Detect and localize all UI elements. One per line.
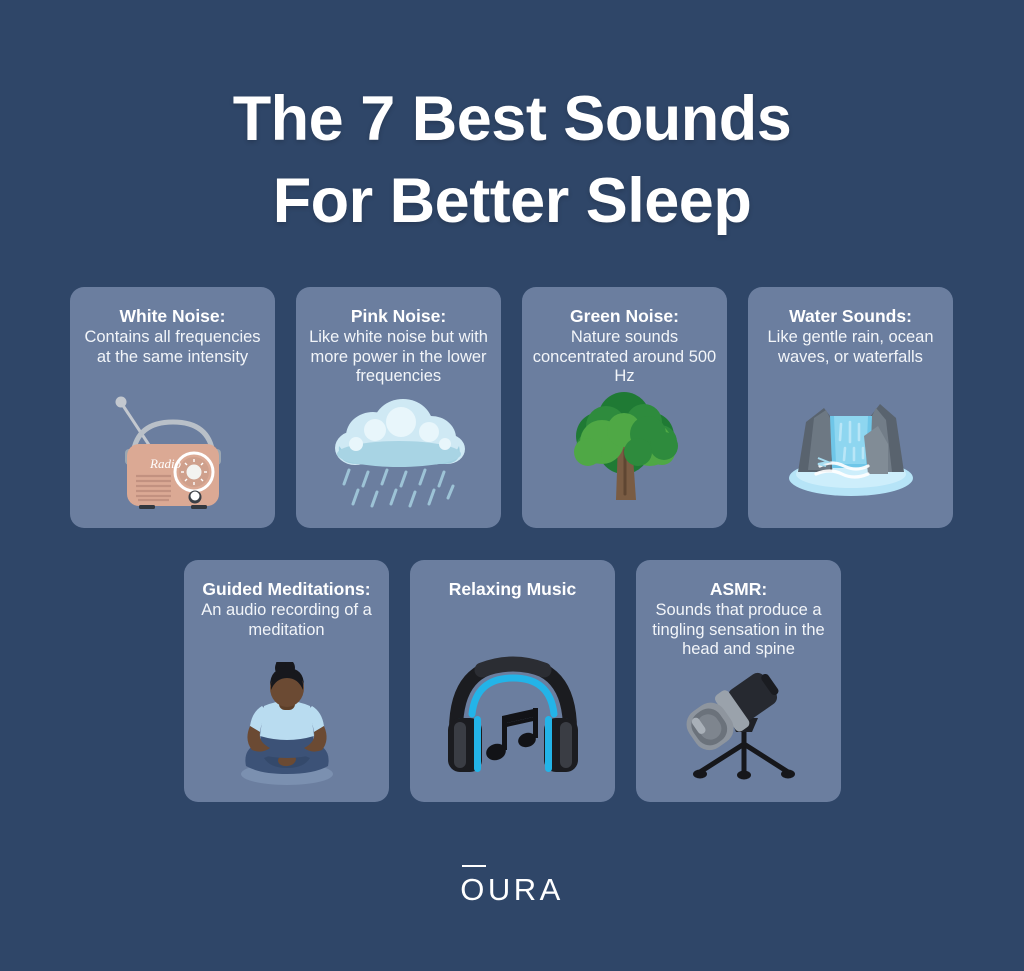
card-asmr: ASMR: Sounds that produce a tingling sen… xyxy=(636,560,841,802)
waterfall-icon xyxy=(748,392,953,500)
card-water-sounds-description: Like gentle rain, ocean waves, or waterf… xyxy=(748,328,953,367)
logo-letter-o: O xyxy=(460,872,488,908)
card-guided-meditations-description: An audio recording of a meditation xyxy=(184,601,389,640)
card-pink-noise-title: Pink Noise: xyxy=(296,305,501,327)
card-white-noise-title: White Noise: xyxy=(70,305,275,327)
card-pink-noise: Pink Noise: Like white noise but with mo… xyxy=(296,287,501,528)
tree-icon xyxy=(522,390,727,510)
card-guided-meditations-title: Guided Meditations: xyxy=(184,578,389,600)
card-relaxing-music: Relaxing Music xyxy=(410,560,615,802)
card-white-noise-description: Contains all frequencies at the same int… xyxy=(70,328,275,367)
card-pink-noise-description: Like white noise but with more power in … xyxy=(296,328,501,387)
oura-logo: OURA xyxy=(0,872,1024,908)
page-title: The 7 Best Sounds For Better Sleep xyxy=(0,78,1024,242)
card-white-noise: White Noise: Contains all frequencies at… xyxy=(70,287,275,528)
card-water-sounds-title: Water Sounds: xyxy=(748,305,953,327)
headphones-music-note-icon xyxy=(410,654,615,776)
card-water-sounds: Water Sounds: Like gentle rain, ocean wa… xyxy=(748,287,953,528)
card-asmr-description: Sounds that produce a tingling sensation… xyxy=(636,601,841,660)
card-asmr-title: ASMR: xyxy=(636,578,841,600)
card-guided-meditations: Guided Meditations: An audio recording o… xyxy=(184,560,389,802)
radio-icon: Radio xyxy=(70,392,275,514)
rain-cloud-icon xyxy=(296,394,501,512)
title-line-1: The 7 Best Sounds xyxy=(0,78,1024,160)
microphone-icon xyxy=(636,660,841,788)
infographic-root: The 7 Best Sounds For Better Sleep White… xyxy=(0,0,1024,971)
card-green-noise: Green Noise: Nature sounds concentrated … xyxy=(522,287,727,528)
title-line-2: For Better Sleep xyxy=(0,160,1024,242)
meditating-person-icon xyxy=(184,662,389,790)
logo-letters-ura: URA xyxy=(488,872,564,907)
card-green-noise-title: Green Noise: xyxy=(522,305,727,327)
card-green-noise-description: Nature sounds concentrated around 500 Hz xyxy=(522,328,727,387)
card-relaxing-music-title: Relaxing Music xyxy=(410,578,615,600)
